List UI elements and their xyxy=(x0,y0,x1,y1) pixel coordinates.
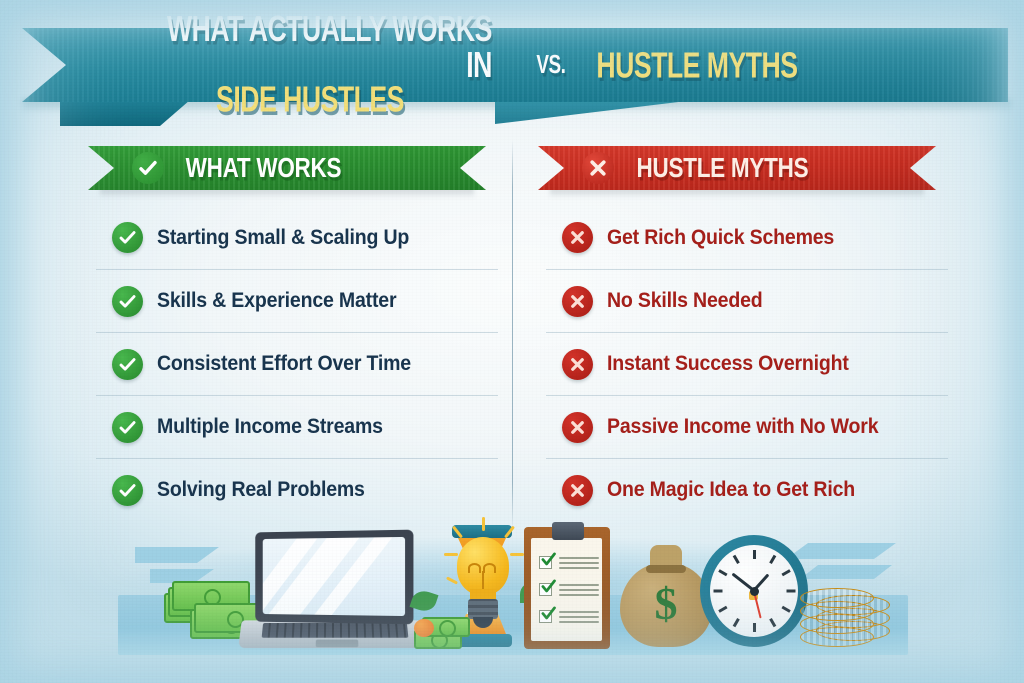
hustle-myths-list: Get Rich Quick Schemes No Skills Needed … xyxy=(546,206,948,521)
cross-circle-icon xyxy=(562,412,593,443)
laptop-base xyxy=(238,620,432,648)
list-item[interactable]: Consistent Effort Over Time xyxy=(96,332,498,395)
bottom-illustration: $ xyxy=(0,495,1024,683)
list-item-label: Passive Income with No Work xyxy=(607,415,878,439)
laptop-lid xyxy=(255,530,413,625)
laptop-icon xyxy=(240,531,430,651)
list-item-label: Consistent Effort Over Time xyxy=(157,352,411,376)
list-item-label: Get Rich Quick Schemes xyxy=(607,226,834,250)
light-ray xyxy=(444,553,458,556)
checklist-lines xyxy=(559,611,599,626)
list-item[interactable]: No Skills Needed xyxy=(546,269,948,332)
title-text-group: WHAT ACTUALLY WORKS IN SIDE HUSTLES VS. … xyxy=(100,28,960,102)
light-ray xyxy=(452,526,463,539)
light-ray xyxy=(504,526,515,539)
clock-center-hub xyxy=(750,587,759,596)
cross-circle-icon xyxy=(562,222,593,253)
orange-fruit-icon xyxy=(414,619,434,637)
clock-tick xyxy=(781,569,790,576)
clock-tick xyxy=(718,569,727,576)
list-item-label: Skills & Experience Matter xyxy=(157,289,396,313)
clock-tick xyxy=(769,555,776,564)
title-left-block: WHAT ACTUALLY WORKS IN SIDE HUSTLES xyxy=(100,16,520,115)
hustle-myths-header-label: HUSTLE MYTHS xyxy=(637,152,809,184)
check-circle-icon xyxy=(112,349,143,380)
clock-tick xyxy=(713,590,722,593)
list-item-label: Multiple Income Streams xyxy=(157,415,383,439)
bulb-filament xyxy=(468,563,481,573)
list-item[interactable]: Passive Income with No Work xyxy=(546,395,948,458)
money-bag-icon: $ xyxy=(620,543,712,647)
column-divider xyxy=(512,140,513,530)
checklist-row xyxy=(539,610,599,628)
what-works-list: Starting Small & Scaling Up Skills & Exp… xyxy=(96,206,498,521)
infographic-canvas: WHAT ACTUALLY WORKS IN SIDE HUSTLES VS. … xyxy=(0,0,1024,683)
clock-tick xyxy=(769,618,776,627)
clock-icon xyxy=(700,535,808,647)
check-circle-icon xyxy=(112,286,143,317)
clipboard-clamp xyxy=(552,522,584,540)
title-vs: VS. xyxy=(536,52,565,78)
list-item[interactable]: Get Rich Quick Schemes xyxy=(546,206,948,269)
check-circle-icon xyxy=(112,222,143,253)
lightbulb-icon xyxy=(446,517,520,639)
list-item-label: No Skills Needed xyxy=(607,289,762,313)
checklist-lines xyxy=(559,557,599,572)
clock-tick xyxy=(781,606,790,613)
clock-tick xyxy=(753,623,756,632)
title-right: HUSTLE MYTHS xyxy=(596,47,797,83)
clipboard-checklist-icon xyxy=(524,527,610,649)
check-circle-icon xyxy=(112,412,143,443)
clipboard-paper xyxy=(531,538,602,641)
clock-tick xyxy=(718,606,727,613)
coin-stack-icon xyxy=(800,577,888,649)
list-item[interactable]: Skills & Experience Matter xyxy=(96,269,498,332)
laptop-keyboard xyxy=(262,623,409,638)
light-ray xyxy=(510,553,524,556)
clock-tick xyxy=(732,555,739,564)
clock-tick xyxy=(732,618,739,627)
check-icon xyxy=(541,579,556,594)
what-works-header-label: WHAT WORKS xyxy=(186,152,342,184)
list-item[interactable]: Instant Success Overnight xyxy=(546,332,948,395)
title-line-1: WHAT ACTUALLY WORKS IN xyxy=(146,11,492,83)
clock-tick xyxy=(786,590,795,593)
dollar-symbol: $ xyxy=(620,577,712,630)
clock-face xyxy=(710,545,798,637)
hustle-myths-header: HUSTLE MYTHS xyxy=(538,146,936,190)
list-item-label: Starting Small & Scaling Up xyxy=(157,226,409,250)
title-ribbon: WHAT ACTUALLY WORKS IN SIDE HUSTLES VS. … xyxy=(0,0,1024,130)
light-ray xyxy=(446,576,458,584)
bulb-tip xyxy=(473,617,493,628)
laptop-trackpad xyxy=(316,640,359,648)
cross-icon xyxy=(582,152,614,184)
clock-tick xyxy=(753,550,756,559)
cross-circle-icon xyxy=(562,349,593,380)
checklist-row xyxy=(539,583,599,601)
what-works-header: WHAT WORKS xyxy=(88,146,486,190)
money-bag-tie xyxy=(646,565,686,573)
list-item-label: Instant Success Overnight xyxy=(607,352,849,376)
bulb-screw-cap xyxy=(468,599,498,619)
laptop-screen xyxy=(263,537,405,616)
list-item[interactable]: Starting Small & Scaling Up xyxy=(96,206,498,269)
check-icon xyxy=(132,152,164,184)
bulb-filament-stem xyxy=(482,571,484,589)
coin xyxy=(800,588,874,608)
check-icon xyxy=(541,606,556,621)
title-line-2: SIDE HUSTLES xyxy=(129,81,490,117)
bulb-filament xyxy=(483,563,496,573)
list-item[interactable]: Multiple Income Streams xyxy=(96,395,498,458)
check-icon xyxy=(541,552,556,567)
cross-circle-icon xyxy=(562,286,593,317)
checklist-lines xyxy=(559,584,599,599)
checklist-row xyxy=(539,556,599,574)
light-ray xyxy=(482,517,485,531)
